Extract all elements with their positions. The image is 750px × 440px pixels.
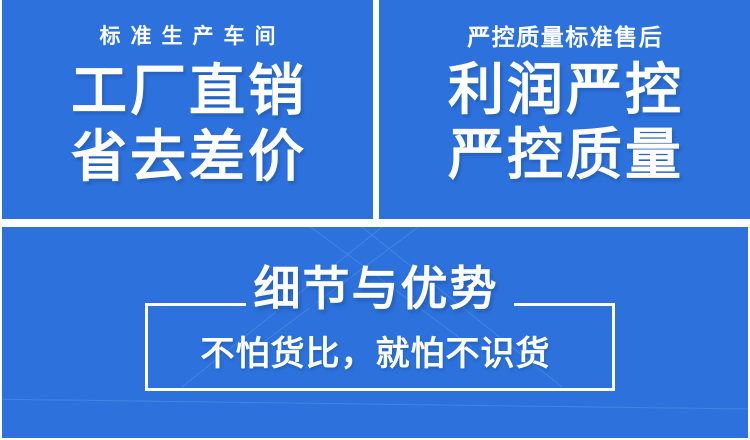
panel-quality-control-eyebrow: 严控质量标准售后 [466, 26, 664, 49]
panel-quality-control-headline-line2: 严控质量 [445, 127, 684, 183]
panel-details-advantages: 细节与优势 不怕货比，就怕不识货 [2, 227, 748, 438]
panel-factory-direct-eyebrow: 标准生产车间 [90, 26, 286, 47]
panel-factory-direct-headline-line1: 工厂直销 [68, 63, 307, 119]
details-advantages-subtitle: 不怕货比，就怕不识货 [2, 337, 748, 371]
panel-factory-direct-headline-line2: 省去差价 [68, 129, 307, 185]
promo-banner: 标准生产车间 工厂直销 省去差价 严控质量标准售后 利润严控 严控质量 [0, 0, 750, 440]
top-panel-row: 标准生产车间 工厂直销 省去差价 严控质量标准售后 利润严控 严控质量 [0, 0, 750, 219]
panel-quality-control-headline-line1: 利润严控 [445, 62, 684, 118]
panel-factory-direct: 标准生产车间 工厂直销 省去差价 [2, 0, 373, 219]
details-advantages-title: 细节与优势 [2, 265, 748, 312]
panel-factory-direct-content: 标准生产车间 工厂直销 省去差价 [2, 0, 373, 219]
panel-quality-control: 严控质量标准售后 利润严控 严控质量 [379, 0, 750, 219]
panel-quality-control-content: 严控质量标准售后 利润严控 严控质量 [379, 0, 750, 219]
